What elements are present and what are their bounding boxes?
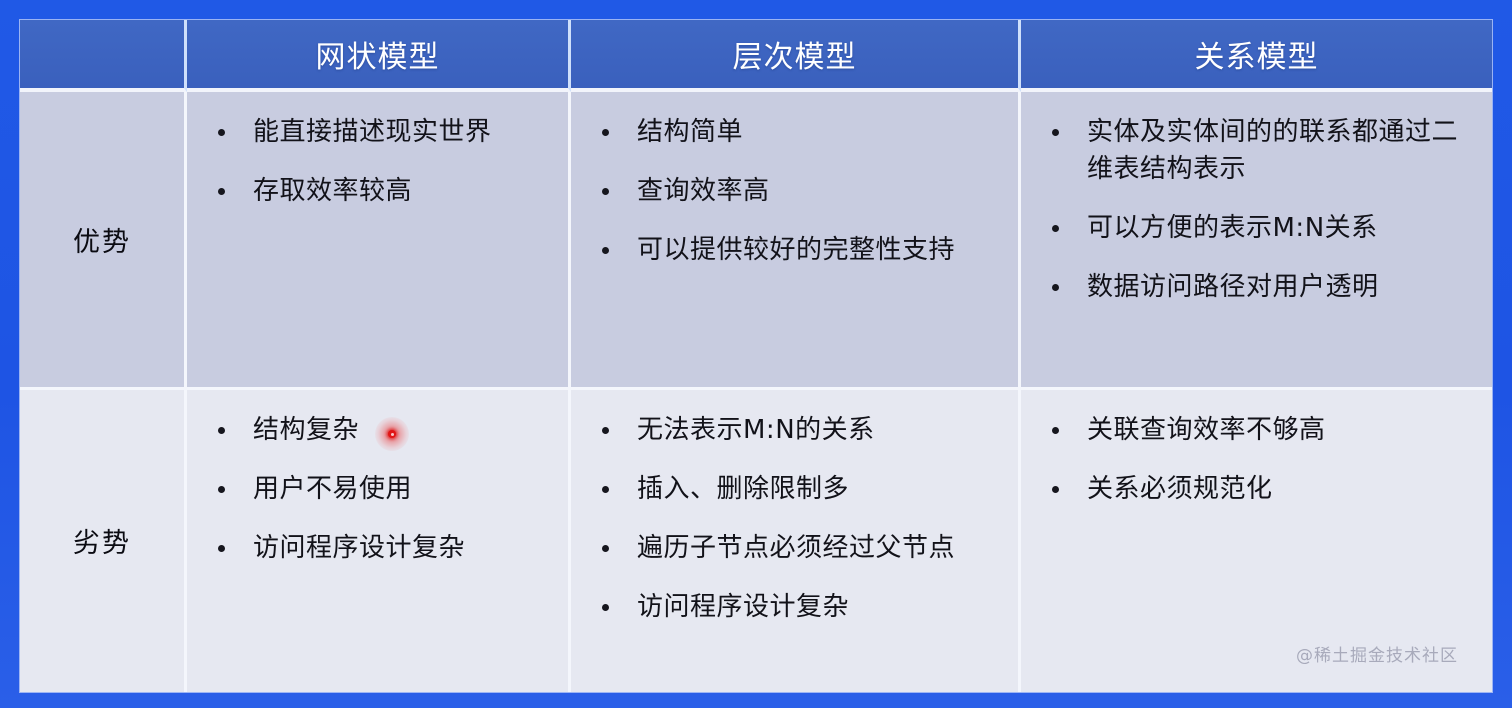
list-item: 无法表示M:N的关系 bbox=[589, 412, 1004, 449]
table-row: 劣势 结构复杂 用户不易使用 访问程序设计复杂 无法表示M:N的关系 插入、删除… bbox=[20, 390, 1492, 692]
bullet-list: 结构简单 查询效率高 可以提供较好的完整性支持 bbox=[571, 92, 1018, 269]
table-header-row: 网状模型 层次模型 关系模型 bbox=[20, 20, 1492, 92]
watermark-label: @稀土掘金技术社区 bbox=[1296, 641, 1458, 666]
header-cell-network-model: 网状模型 bbox=[187, 20, 571, 92]
list-item: 可以方便的表示M:N关系 bbox=[1039, 210, 1478, 247]
bullet-list: 实体及实体间的的联系都通过二维表结构表示 可以方便的表示M:N关系 数据访问路径… bbox=[1021, 92, 1492, 306]
cell-disadvantages-hierarchical-model: 无法表示M:N的关系 插入、删除限制多 遍历子节点必须经过父节点 访问程序设计复… bbox=[571, 390, 1021, 692]
row-label-advantages: 优势 bbox=[20, 92, 187, 390]
list-item: 用户不易使用 bbox=[205, 471, 554, 508]
header-corner-cell bbox=[20, 20, 187, 92]
table-header: 网状模型 层次模型 关系模型 bbox=[20, 20, 1492, 92]
list-item: 结构复杂 bbox=[205, 412, 554, 449]
table-body: 优势 能直接描述现实世界 存取效率较高 结构简单 查询效率高 可以提供较好的完整… bbox=[20, 92, 1492, 692]
cell-disadvantages-network-model: 结构复杂 用户不易使用 访问程序设计复杂 bbox=[187, 390, 571, 692]
list-item: 实体及实体间的的联系都通过二维表结构表示 bbox=[1039, 114, 1478, 188]
table-row: 优势 能直接描述现实世界 存取效率较高 结构简单 查询效率高 可以提供较好的完整… bbox=[20, 92, 1492, 390]
list-item: 插入、删除限制多 bbox=[589, 471, 1004, 508]
bullet-list: 结构复杂 用户不易使用 访问程序设计复杂 bbox=[187, 390, 568, 567]
header-cell-hierarchical-model: 层次模型 bbox=[571, 20, 1021, 92]
comparison-table: 网状模型 层次模型 关系模型 优势 能直接描述现实世界 存取效率较高 bbox=[20, 20, 1492, 692]
bullet-list: 关联查询效率不够高 关系必须规范化 bbox=[1021, 390, 1492, 508]
cell-advantages-relational-model: 实体及实体间的的联系都通过二维表结构表示 可以方便的表示M:N关系 数据访问路径… bbox=[1021, 92, 1492, 390]
header-cell-relational-model: 关系模型 bbox=[1021, 20, 1492, 92]
list-item: 遍历子节点必须经过父节点 bbox=[589, 530, 1004, 567]
list-item: 可以提供较好的完整性支持 bbox=[589, 232, 1004, 269]
list-item: 存取效率较高 bbox=[205, 173, 554, 210]
list-item: 数据访问路径对用户透明 bbox=[1039, 269, 1478, 306]
list-item: 访问程序设计复杂 bbox=[589, 589, 1004, 626]
row-label-disadvantages: 劣势 bbox=[20, 390, 187, 692]
comparison-table-container: 网状模型 层次模型 关系模型 优势 能直接描述现实世界 存取效率较高 bbox=[20, 20, 1492, 692]
bullet-list: 能直接描述现实世界 存取效率较高 bbox=[187, 92, 568, 210]
cell-advantages-network-model: 能直接描述现实世界 存取效率较高 bbox=[187, 92, 571, 390]
bullet-list: 无法表示M:N的关系 插入、删除限制多 遍历子节点必须经过父节点 访问程序设计复… bbox=[571, 390, 1018, 626]
list-item: 结构简单 bbox=[589, 114, 1004, 151]
slide-canvas: 网状模型 层次模型 关系模型 优势 能直接描述现实世界 存取效率较高 bbox=[0, 0, 1512, 708]
list-item: 关系必须规范化 bbox=[1039, 471, 1478, 508]
cell-advantages-hierarchical-model: 结构简单 查询效率高 可以提供较好的完整性支持 bbox=[571, 92, 1021, 390]
list-item: 能直接描述现实世界 bbox=[205, 114, 554, 151]
list-item: 关联查询效率不够高 bbox=[1039, 412, 1478, 449]
list-item: 访问程序设计复杂 bbox=[205, 530, 554, 567]
list-item: 查询效率高 bbox=[589, 173, 1004, 210]
